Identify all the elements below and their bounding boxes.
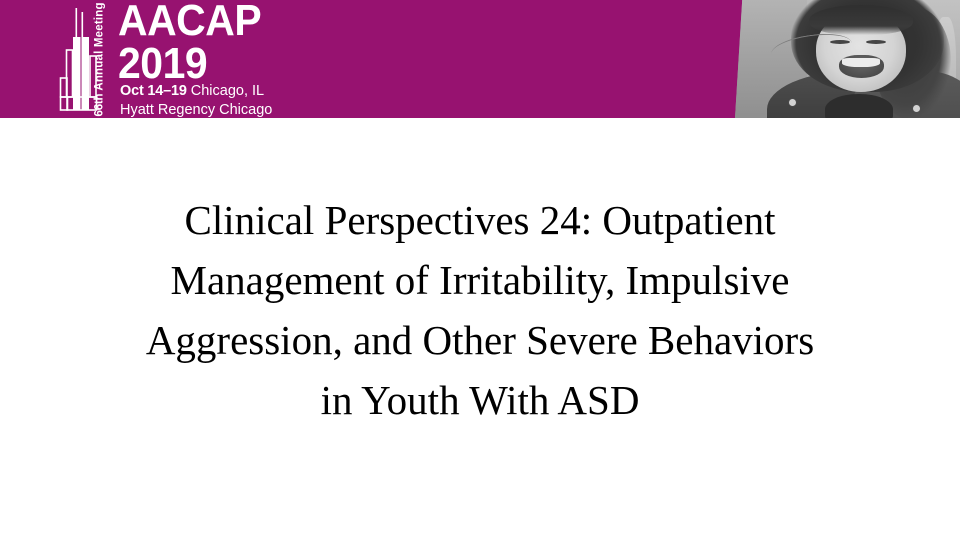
title-line-3: Aggression, and Other Severe Behaviors [0,310,960,370]
photo-canvas [735,0,960,118]
slide-title: Clinical Perspectives 24: Outpatient Man… [0,190,960,430]
organization-name: AACAP [118,1,261,42]
photo-button-right [913,105,920,112]
annual-meeting-vertical-text: 66th Annual Meeting [97,4,115,116]
photo-teeth [842,58,880,67]
photo-bangs [809,5,913,36]
smiling-child-photo [735,0,960,118]
aacap-wordmark: AACAP 2019 [118,1,272,85]
title-line-1: Clinical Perspectives 24: Outpatient [0,190,960,250]
meeting-venue: Hyatt Regency Chicago [120,101,272,118]
meeting-dates: Oct 14–19 [120,83,187,99]
title-line-4: in Youth With ASD [0,370,960,430]
header-band: 66th Annual Meeting AACAP 2019 Oct 14–19… [0,0,960,118]
meeting-city: Chicago, IL [187,83,264,99]
meeting-details: Oct 14–19 Chicago, IL Hyatt Regency Chic… [120,82,272,118]
meeting-year: 2019 [118,44,261,85]
annual-meeting-label: Annual Meeting [94,2,106,93]
photo-collar [825,94,893,118]
presentation-slide: 66th Annual Meeting AACAP 2019 Oct 14–19… [0,0,960,540]
annual-meeting-ordinal: 66th [94,93,106,116]
title-line-2: Management of Irritability, Impulsive [0,250,960,310]
